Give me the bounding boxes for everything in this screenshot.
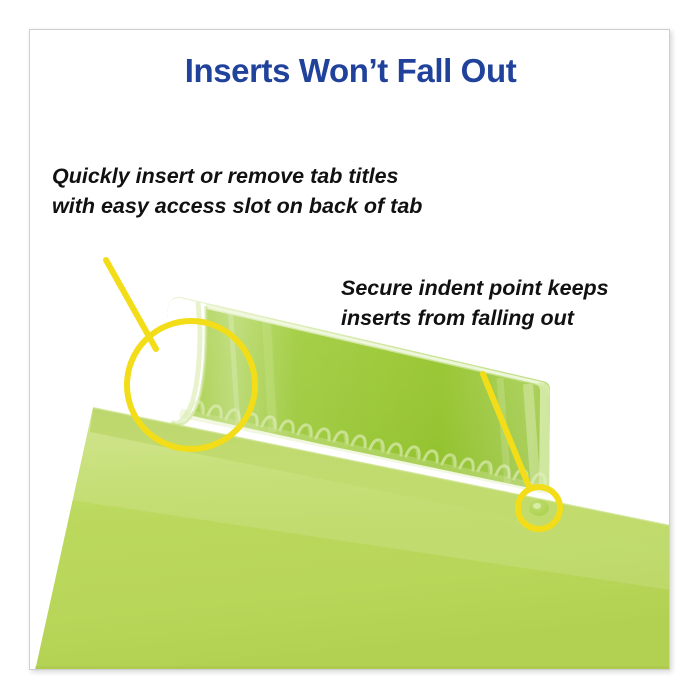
- page-title: Inserts Won’t Fall Out: [30, 52, 670, 90]
- callout-caption-tab-slot-line2: with easy access slot on back of tab: [52, 191, 422, 221]
- callout-caption-indent-point-line2: inserts from falling out: [341, 303, 609, 333]
- screenshot-root: Inserts Won’t Fall Out Quickly insert or…: [0, 0, 700, 700]
- callout-caption-indent-point-line1: Secure indent point keeps: [341, 273, 609, 303]
- callout-caption-tab-slot-line1: Quickly insert or remove tab titles: [52, 161, 422, 191]
- product-photo-artwork: [30, 30, 670, 670]
- callout-caption-tab-slot: Quickly insert or remove tab titles with…: [52, 161, 422, 221]
- callout-caption-indent-point: Secure indent point keeps inserts from f…: [341, 273, 609, 333]
- product-photo-frame: Inserts Won’t Fall Out Quickly insert or…: [29, 29, 670, 670]
- indent-point: [529, 500, 549, 516]
